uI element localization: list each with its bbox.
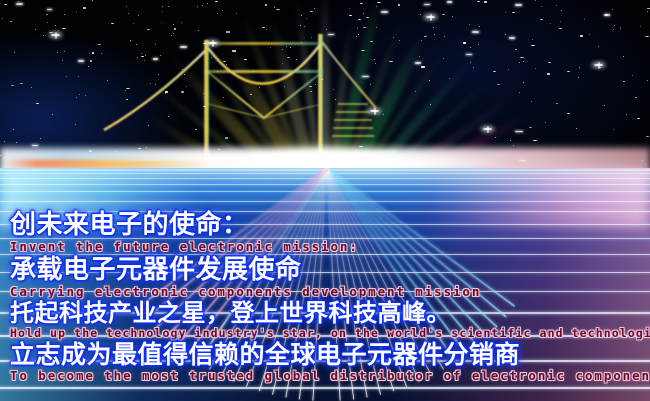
mission-1-cn: 承载电子元器件发展使命: [10, 257, 650, 284]
mission-3-en: To become the most trusted global distri…: [10, 369, 650, 383]
mission-text-block: 创未来电子的使命： Invent the future electronic m…: [10, 212, 650, 383]
mission-1-en: Carrying electronic components developme…: [10, 285, 650, 299]
mission-2-en: Hold up the technology industry's star, …: [10, 327, 650, 339]
mission-2-cn: 托起科技产业之星，登上世界科技高峰。: [10, 301, 650, 326]
mission-title-en: Invent the future electronic mission:: [10, 240, 650, 254]
mission-title-cn: 创未来电子的使命：: [10, 212, 650, 239]
mission-3-cn: 立志成为最值得信赖的全球电子元器件分销商: [10, 342, 650, 368]
banner-image: 创未来电子的使命： Invent the future electronic m…: [0, 0, 650, 401]
